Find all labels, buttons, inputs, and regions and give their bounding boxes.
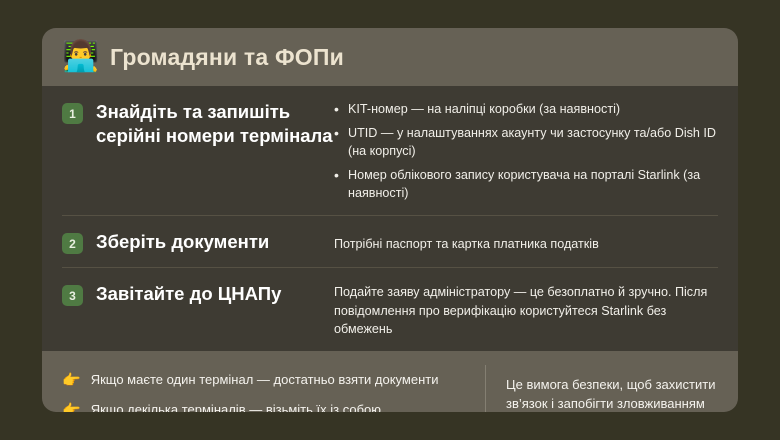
step-heading: 1 Знайдіть та запишіть серійні номери те…	[62, 100, 334, 148]
step-detail: Подайте заяву адміністратору — це безопл…	[334, 282, 718, 338]
step-number-badge: 3	[62, 285, 83, 306]
pointing-right-icon: 👉	[62, 373, 81, 388]
step-note: Подайте заяву адміністратору — це безопл…	[334, 283, 718, 338]
info-card: 👨‍💻 Громадяни та ФОПи 1 Знайдіть та запи…	[42, 28, 738, 412]
step-detail: Потрібні паспорт та картка платника пода…	[334, 230, 718, 253]
step-note: Потрібні паспорт та картка платника пода…	[334, 235, 718, 253]
footer-note-text: Це вимога безпеки, щоб захистити зв’язок…	[506, 376, 718, 412]
list-item: Номер облікового запису користувача на п…	[334, 167, 718, 203]
steps-list: 1 Знайдіть та запишіть серійні номери те…	[42, 86, 738, 351]
step-row: 2 Зберіть документи Потрібні паспорт та …	[62, 216, 718, 268]
list-item: 👉 Якщо декілька терміналів — візьміть їх…	[62, 402, 467, 412]
page-title: Громадяни та ФОПи	[110, 44, 344, 71]
step-heading: 2 Зберіть документи	[62, 230, 334, 254]
list-item: 👉 Якщо маєте один термінал — достатньо в…	[62, 372, 467, 389]
man-technologist-icon: 👨‍💻	[62, 42, 96, 72]
step-heading: 3 Завітайте до ЦНАПу	[62, 282, 334, 306]
step-title: Знайдіть та запишіть серійні номери терм…	[96, 100, 334, 148]
list-item: UTID — у налаштуваннях акаунту чи застос…	[334, 125, 718, 161]
bullet-list: KIT-номер — на наліпці коробки (за наявн…	[334, 101, 718, 202]
step-number-badge: 2	[62, 233, 83, 254]
step-title: Завітайте до ЦНАПу	[96, 282, 281, 306]
step-row: 1 Знайдіть та запишіть серійні номери те…	[62, 86, 718, 216]
card-footer: 👉 Якщо маєте один термінал — достатньо в…	[42, 351, 738, 412]
pointing-right-icon: 👉	[62, 403, 81, 412]
footer-tip-text: Якщо декілька терміналів — візьміть їх і…	[91, 402, 381, 412]
step-title: Зберіть документи	[96, 230, 269, 254]
card-header: 👨‍💻 Громадяни та ФОПи	[42, 28, 738, 86]
step-number-badge: 1	[62, 103, 83, 124]
footer-tip-text: Якщо маєте один термінал — достатньо взя…	[91, 372, 439, 389]
step-row: 3 Завітайте до ЦНАПу Подайте заяву адмін…	[62, 268, 718, 351]
list-item: KIT-номер — на наліпці коробки (за наявн…	[334, 101, 718, 119]
footer-tips: 👉 Якщо маєте один термінал — достатньо в…	[62, 363, 485, 412]
step-detail: KIT-номер — на наліпці коробки (за наявн…	[334, 100, 718, 202]
footer-note: Це вимога безпеки, щоб захистити зв’язок…	[486, 363, 718, 412]
